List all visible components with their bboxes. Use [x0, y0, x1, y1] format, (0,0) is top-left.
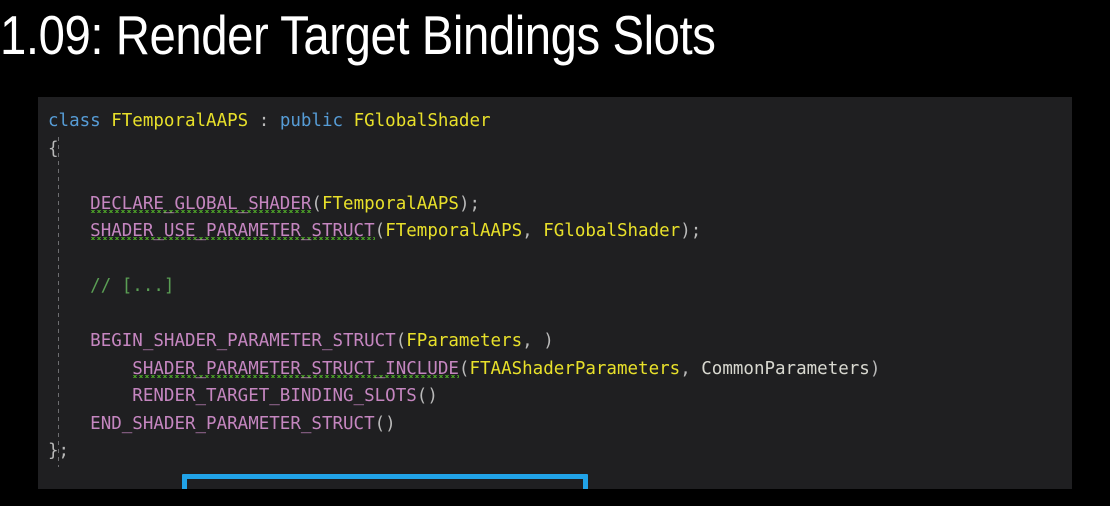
code-line: {: [48, 136, 1072, 164]
token-arg-ftemporalaaps: FTemporalAAPS: [385, 221, 522, 241]
token-paren-open: (: [311, 194, 322, 214]
token-macro-render-target-binding-slots: RENDER_TARGET_BINDING_SLOTS: [132, 386, 416, 406]
token-type-fglobalshader: FGlobalShader: [354, 111, 491, 131]
token-comma: ,: [522, 221, 543, 241]
token-keyword-class: class: [48, 111, 101, 131]
token-paren-close: ): [870, 359, 881, 379]
code-line: // [...]: [48, 273, 1072, 301]
code-line: RENDER_TARGET_BINDING_SLOTS(): [48, 383, 1072, 411]
token-macro-shader-parameter-struct-include: SHADER_PARAMETER_STRUCT_INCLUDE: [132, 359, 459, 379]
code-line: BEGIN_SHADER_PARAMETER_STRUCT(FParameter…: [48, 328, 1072, 356]
token-arg-fglobalshader: FGlobalShader: [543, 221, 680, 241]
token-indent: [48, 386, 132, 406]
token-indent: [48, 194, 90, 214]
code-line: DECLARE_GLOBAL_SHADER(FTemporalAAPS);: [48, 191, 1072, 219]
token-paren-close: , ): [522, 331, 554, 351]
token-paren-open: (: [375, 221, 386, 241]
code-line-blank: [48, 246, 1072, 274]
code-block: class FTemporalAAPS : public FGlobalShad…: [38, 97, 1072, 489]
token-indent: [48, 276, 90, 296]
code-listing: class FTemporalAAPS : public FGlobalShad…: [38, 97, 1072, 466]
token-colon: :: [248, 111, 280, 131]
token-paren-close: );: [459, 194, 480, 214]
token-indent: [48, 221, 90, 241]
token-arg-ftemporalaaps: FTemporalAAPS: [322, 194, 459, 214]
highlight-box-render-target-binding-slots: [182, 474, 588, 489]
token-macro-shader-use-parameter-struct: SHADER_USE_PARAMETER_STRUCT: [90, 221, 374, 241]
page-title: 1.09: Render Target Bindings Slots: [0, 1, 929, 73]
token-paren-open: (: [459, 359, 470, 379]
code-line-blank: [48, 163, 1072, 191]
token-paren-open: (: [396, 331, 407, 351]
token-indent: [48, 331, 90, 351]
token-space: [101, 111, 112, 131]
code-line: };: [48, 438, 1072, 466]
token-arg-commonparameters: CommonParameters: [701, 359, 870, 379]
code-line: SHADER_USE_PARAMETER_STRUCT(FTemporalAAP…: [48, 218, 1072, 246]
token-macro-end-shader-parameter-struct: END_SHADER_PARAMETER_STRUCT: [90, 414, 374, 434]
slide-root: 1.09: Render Target Bindings Slots class…: [0, 0, 1110, 506]
token-parens: (): [375, 414, 396, 434]
token-comma: ,: [680, 359, 701, 379]
token-indent: [48, 359, 132, 379]
token-type-ftemporalaaps: FTemporalAAPS: [111, 111, 248, 131]
code-line-blank: [48, 301, 1072, 329]
token-arg-fparameters: FParameters: [406, 331, 522, 351]
token-comment-ellipsis: // [...]: [90, 276, 174, 296]
token-brace-close: };: [48, 441, 69, 461]
code-line: class FTemporalAAPS : public FGlobalShad…: [48, 108, 1072, 136]
token-brace-open: {: [48, 139, 59, 159]
token-paren-close: );: [680, 221, 701, 241]
token-arg-ftaashaderparameters: FTAAShaderParameters: [469, 359, 680, 379]
token-space: [343, 111, 354, 131]
code-line: END_SHADER_PARAMETER_STRUCT(): [48, 411, 1072, 439]
token-macro-declare-global-shader: DECLARE_GLOBAL_SHADER: [90, 194, 311, 214]
code-line: SHADER_PARAMETER_STRUCT_INCLUDE(FTAAShad…: [48, 356, 1072, 384]
token-parens: (): [417, 386, 438, 406]
token-keyword-public: public: [280, 111, 343, 131]
token-macro-begin-shader-parameter-struct: BEGIN_SHADER_PARAMETER_STRUCT: [90, 331, 396, 351]
token-indent: [48, 414, 90, 434]
